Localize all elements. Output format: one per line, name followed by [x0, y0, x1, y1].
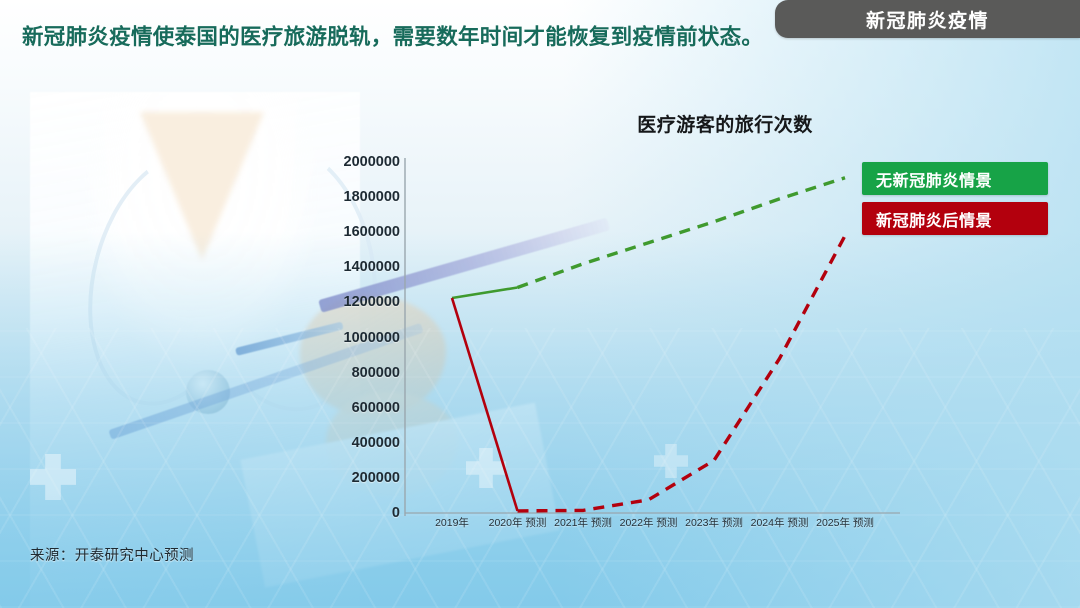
chart-series-line-1-actual: [452, 288, 518, 299]
slide-canvas: 新冠肺炎疫情使泰国的医疗旅游脱轨，需要数年时间才能恢复到疫情前状态。 新冠肺炎疫…: [0, 0, 1080, 608]
source-note: 来源：开泰研究中心预测: [30, 544, 194, 565]
chart-series-line-2-actual: [452, 298, 518, 511]
legend-item-label: 新冠肺炎后情景: [876, 207, 992, 231]
chart-container: 医疗游客的旅行次数 200000018000001600000140000012…: [0, 0, 1080, 608]
chart-series-line-2-forecast: [518, 236, 846, 511]
legend-item-2[interactable]: 新冠肺炎后情景: [862, 202, 1048, 235]
chart-series-line-1-forecast: [518, 178, 846, 288]
legend-item-label: 无新冠肺炎情景: [876, 167, 992, 191]
chart-series-layer: [452, 178, 845, 511]
chart-plot-svg: [0, 0, 1080, 608]
legend-item-1[interactable]: 无新冠肺炎情景: [862, 162, 1048, 195]
chart-legend: 无新冠肺炎情景新冠肺炎后情景: [862, 162, 1048, 242]
